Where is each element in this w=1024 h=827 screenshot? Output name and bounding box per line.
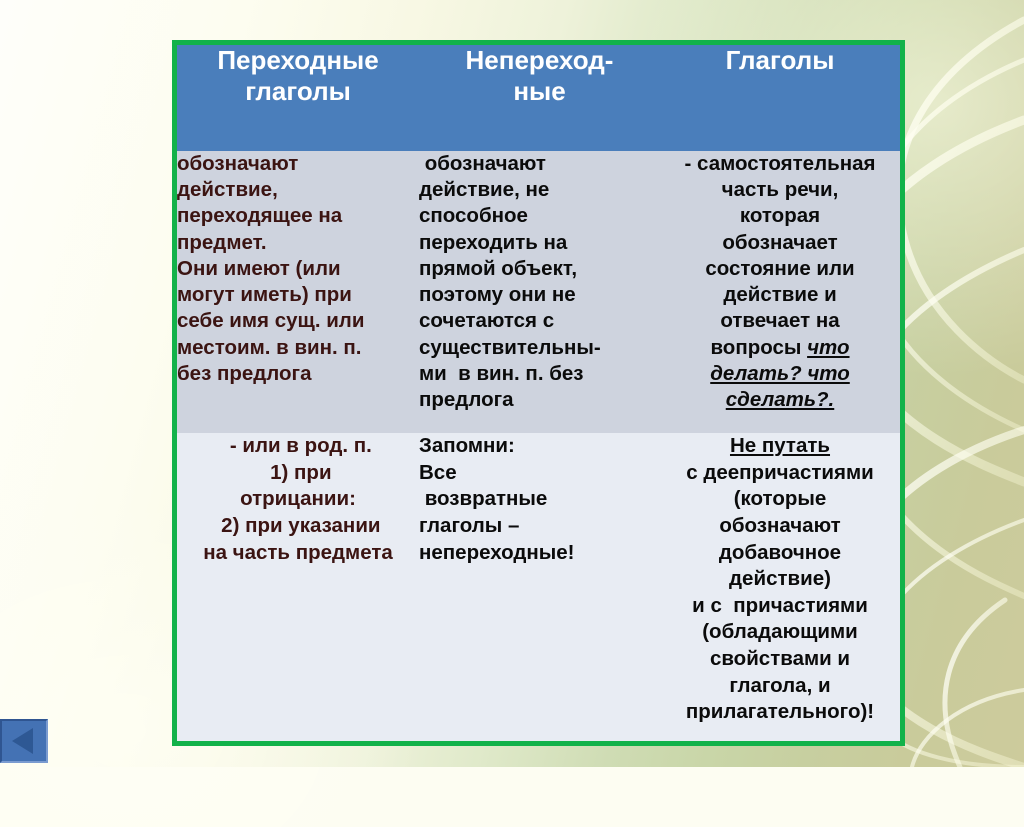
header-cell-intransitive: Непереход- ные <box>419 45 660 151</box>
line: - самостоятельная <box>660 151 900 177</box>
cell-verb-definition-text: - самостоятельная часть речи, которая об… <box>660 151 900 413</box>
line: отвечает на <box>660 308 900 334</box>
warning-title: Не путать <box>730 434 830 457</box>
header-label-verbs: Глаголы <box>726 45 835 75</box>
line: обозначают <box>177 151 419 177</box>
table-row: - или в род. п. 1) при отрицании: 2) при… <box>177 433 900 741</box>
line: Все <box>419 460 660 487</box>
line: переходить на <box>419 230 660 256</box>
line: и с причастиями <box>660 593 900 620</box>
header-cell-verbs: Глаголы <box>660 45 900 151</box>
line: обозначают <box>660 513 900 540</box>
line: сделать?. <box>660 387 900 413</box>
triangle-left-icon <box>12 728 33 754</box>
line: себе имя сущ. или <box>177 308 419 334</box>
line: поэтому они не <box>419 282 660 308</box>
header-cell-transitive-verbs: Переходные глаголы <box>177 45 419 151</box>
line: действие и <box>660 282 900 308</box>
cell-intransitive-definition-text: обозначают действие, не способное перехо… <box>419 151 660 413</box>
cell-transitive-genitive-cases: - или в род. п. 1) при отрицании: 2) при… <box>177 433 419 741</box>
table-header-row: Переходные глаголы Непереход- ные Глагол… <box>177 45 900 151</box>
line: переходящее на <box>177 203 419 229</box>
line: глаголы – <box>419 513 660 540</box>
line: 2) при указании <box>177 513 419 540</box>
header-label-transitive: Переходные глаголы <box>217 45 378 106</box>
question-prefix: вопросы <box>710 336 807 359</box>
line: существительны- <box>419 335 660 361</box>
cell-intransitive-definition: обозначают действие, не способное перехо… <box>419 151 660 433</box>
verbs-comparison-table: Переходные глаголы Непереход- ные Глагол… <box>172 40 905 746</box>
line: действие, <box>177 177 419 203</box>
line: способное <box>419 203 660 229</box>
line: состояние или <box>660 256 900 282</box>
cell-transitive-definition: обозначают действие, переходящее на пред… <box>177 151 419 433</box>
line: прилагательного)! <box>660 699 900 726</box>
line: (которые <box>660 486 900 513</box>
cell-intransitive-reminder: Запомни: Все возвратные глаголы – непере… <box>419 433 660 741</box>
cell-transitive-genitive-cases-text: - или в род. п. 1) при отрицании: 2) при… <box>177 433 419 566</box>
line: - или в род. п. <box>177 433 419 460</box>
cell-intransitive-reminder-text: Запомни: Все возвратные глаголы – непере… <box>419 433 660 566</box>
line: добавочное <box>660 540 900 567</box>
line: вопросы что <box>660 335 900 361</box>
table-row: обозначают действие, переходящее на пред… <box>177 151 900 433</box>
line: Не путать <box>660 433 900 460</box>
line: предмет. <box>177 230 419 256</box>
line: Они имеют (или <box>177 256 419 282</box>
line: глагола, и <box>660 673 900 700</box>
line: (обладающими <box>660 619 900 646</box>
line: делать? что <box>660 361 900 387</box>
question-part-2: делать? что <box>710 362 850 385</box>
line: непереходные! <box>419 540 660 567</box>
line: предлога <box>419 387 660 413</box>
cell-verb-warning: Не путать с деепричастиями (которые обоз… <box>660 433 900 741</box>
question-part-3: сделать?. <box>726 388 835 411</box>
line: отрицании: <box>177 486 419 513</box>
line: свойствами и <box>660 646 900 673</box>
line: которая <box>660 203 900 229</box>
cell-verb-warning-text: Не путать с деепричастиями (которые обоз… <box>660 433 900 726</box>
line: местоим. в вин. п. <box>177 335 419 361</box>
line: обозначают <box>419 151 660 177</box>
line: сочетаются с <box>419 308 660 334</box>
line: действие) <box>660 566 900 593</box>
line: Запомни: <box>419 433 660 460</box>
line: часть речи, <box>660 177 900 203</box>
line: без предлога <box>177 361 419 387</box>
cell-transitive-definition-text: обозначают действие, переходящее на пред… <box>177 151 419 387</box>
line: могут иметь) при <box>177 282 419 308</box>
cell-verb-definition: - самостоятельная часть речи, которая об… <box>660 151 900 433</box>
header-label-intransitive: Непереход- ные <box>466 45 614 106</box>
previous-slide-button[interactable] <box>0 719 48 763</box>
line: прямой объект, <box>419 256 660 282</box>
line: возвратные <box>419 486 660 513</box>
line: на часть предмета <box>177 540 419 567</box>
line: действие, не <box>419 177 660 203</box>
line: обозначает <box>660 230 900 256</box>
line: с деепричастиями <box>660 460 900 487</box>
question-part-1: что <box>807 336 849 359</box>
line: 1) при <box>177 460 419 487</box>
line: ми в вин. п. без <box>419 361 660 387</box>
